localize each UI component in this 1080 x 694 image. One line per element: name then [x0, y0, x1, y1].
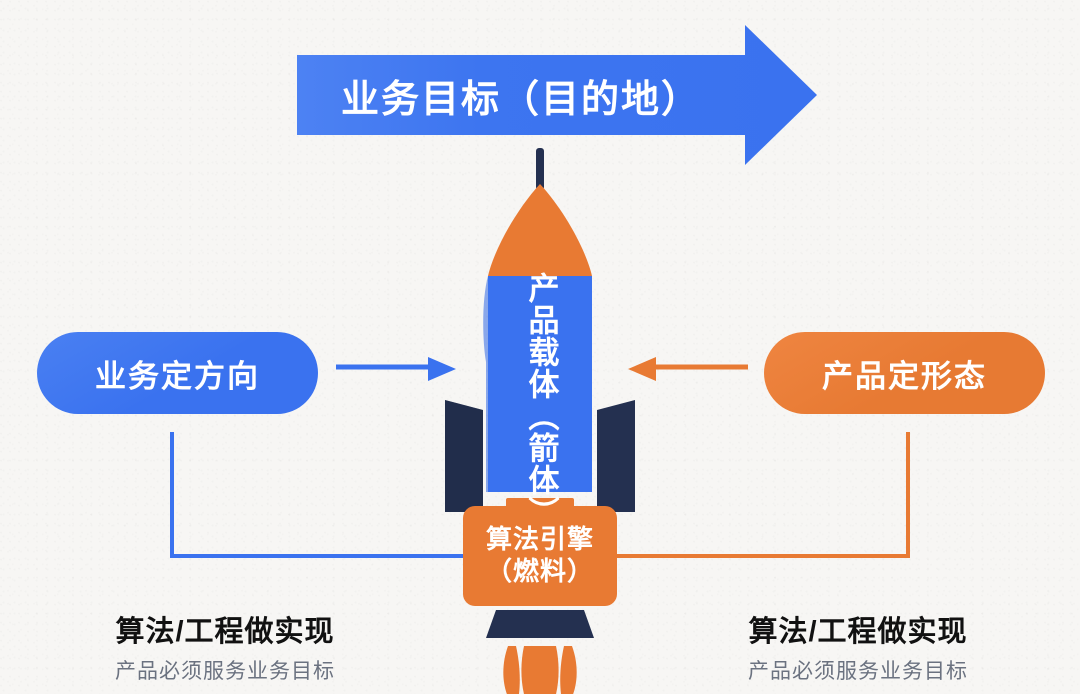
pill-business-direction[interactable]: 业务定方向: [37, 332, 318, 414]
rocket-icon: [390, 148, 690, 694]
diagram-canvas: 业务目标（目的地） 业务定方向 产品定形态: [0, 0, 1080, 694]
caption-right-title: 算法/工程做实现: [688, 608, 1028, 650]
rocket-fin-right-icon: [597, 400, 635, 512]
rocket-body-icon: [488, 276, 592, 492]
caption-right: 算法/工程做实现 产品必须服务业务目标: [688, 608, 1028, 685]
fuel-algorithm-engine-box[interactable]: 算法引擎 （燃料）: [463, 506, 617, 606]
rocket-illustration: 产品载体（箭体）: [390, 148, 690, 694]
rocket-antenna-icon: [536, 148, 544, 190]
caption-left-title: 算法/工程做实现: [55, 608, 395, 650]
pill-product-form[interactable]: 产品定形态: [764, 332, 1045, 414]
fuel-label-line2: （燃料）: [486, 556, 594, 588]
fuel-label-line1: 算法引擎: [486, 524, 594, 556]
pill-left-label: 业务定方向: [95, 351, 260, 396]
caption-left: 算法/工程做实现 产品必须服务业务目标: [55, 608, 395, 685]
rocket-lower-collar-icon: [486, 610, 594, 638]
rocket-nose-cone-icon: [488, 184, 592, 276]
caption-left-subtitle: 产品必须服务业务目标: [55, 655, 395, 685]
caption-right-subtitle: 产品必须服务业务目标: [688, 655, 1028, 685]
rocket-flame-right-icon: [560, 646, 576, 694]
rocket-flame-center-icon: [521, 646, 558, 694]
pill-right-label: 产品定形态: [822, 351, 987, 396]
rocket-flame-left-icon: [503, 646, 519, 694]
business-goal-label: 业务目标（目的地）: [297, 25, 745, 165]
business-goal-banner-arrow: 业务目标（目的地）: [297, 25, 817, 165]
